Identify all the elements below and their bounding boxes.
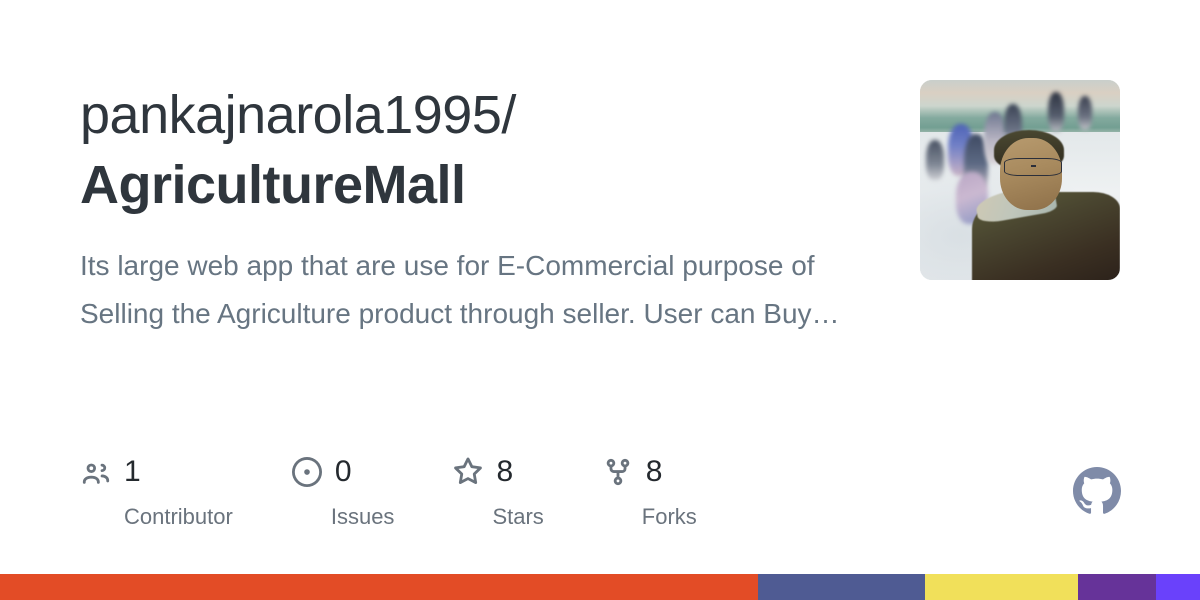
avatar-background-person — [1048, 92, 1064, 132]
repo-description: Its large web app that are use for E-Com… — [80, 220, 840, 338]
avatar — [920, 80, 1120, 280]
language-bar-segment-2 — [758, 574, 925, 600]
stat-issues-top: 0 — [291, 452, 395, 492]
stat-stars: 8 Stars — [452, 452, 543, 532]
avatar-background-person — [926, 140, 944, 180]
issue-opened-icon — [291, 456, 323, 488]
stat-stars-label: Stars — [452, 492, 543, 532]
repo-name: AgricultureMall — [80, 150, 870, 220]
repository-social-preview-card: pankajnarola1995/ AgricultureMall Its la… — [0, 0, 1200, 600]
avatar-subject-glasses — [1004, 158, 1062, 176]
repo-owner: pankajnarola1995/ — [80, 85, 516, 145]
stat-forks: 8 Forks — [602, 452, 697, 532]
stat-issues-value: 0 — [335, 456, 352, 488]
stat-contributors-label: Contributor — [80, 492, 233, 532]
stat-contributors: 1 Contributor — [80, 452, 233, 532]
language-bar — [0, 574, 1200, 600]
stat-issues-label: Issues — [291, 492, 395, 532]
stat-contributors-value: 1 — [124, 456, 141, 488]
star-icon — [452, 456, 484, 488]
avatar-background-person — [1078, 96, 1092, 130]
language-bar-segment-5 — [1156, 574, 1200, 600]
stat-forks-value: 8 — [646, 456, 663, 488]
people-icon — [80, 456, 112, 488]
github-logo-icon — [1073, 467, 1121, 515]
stat-forks-top: 8 — [602, 452, 697, 492]
repository-info: pankajnarola1995/ AgricultureMall Its la… — [80, 80, 870, 338]
language-bar-segment-4 — [1078, 574, 1156, 600]
stat-forks-label: Forks — [602, 492, 697, 532]
page-title: pankajnarola1995/ AgricultureMall — [80, 80, 870, 220]
stat-stars-value: 8 — [496, 456, 513, 488]
language-bar-segment-1 — [0, 574, 758, 600]
stat-contributors-top: 1 — [80, 452, 233, 492]
stat-issues: 0 Issues — [291, 452, 395, 532]
language-bar-segment-3 — [925, 574, 1077, 600]
repo-stats: 1 Contributor 0 Issues — [80, 452, 755, 532]
stat-stars-top: 8 — [452, 452, 543, 492]
repo-forked-icon — [602, 456, 634, 488]
avatar-photo — [920, 80, 1120, 280]
